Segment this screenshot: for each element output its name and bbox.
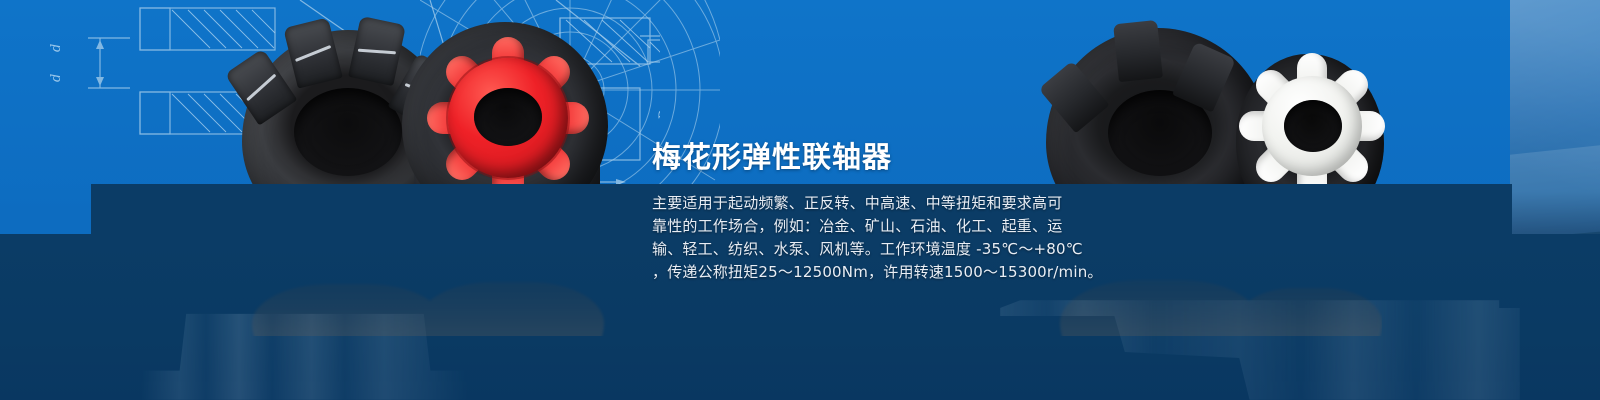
product-description: 主要适用于起动频繁、正反转、中高速、中等扭矩和要求高可 靠性的工作场合，例如：冶…	[652, 192, 1072, 284]
product-banner: d d D D L L L 0	[0, 0, 1600, 400]
svg-text:d: d	[49, 44, 64, 52]
roller-silhouette-icon	[140, 295, 470, 400]
description-line: 输、轻工、纺织、水泵、风机等。工作环境温度 -35℃～+80℃	[652, 238, 1072, 261]
description-line: 靠性的工作场合，例如：冶金、矿山、石油、化工、起重、运	[652, 215, 1072, 238]
machine-silhouette-icon	[1000, 300, 1520, 400]
svg-text:D: D	[285, 93, 300, 105]
description-line: 主要适用于起动频繁、正反转、中高速、中等扭矩和要求高可	[652, 192, 1072, 215]
svg-text:L: L	[261, 141, 271, 156]
description-line: ，传递公称扭矩25～12500Nm，许用转速1500～15300r/min。	[652, 261, 1072, 284]
page-title: 梅花形弹性联轴器	[652, 140, 1072, 174]
banner-copy: 梅花形弹性联轴器 主要适用于起动频繁、正反转、中高速、中等扭矩和要求高可 靠性的…	[652, 140, 1072, 284]
svg-text:d: d	[49, 74, 64, 82]
